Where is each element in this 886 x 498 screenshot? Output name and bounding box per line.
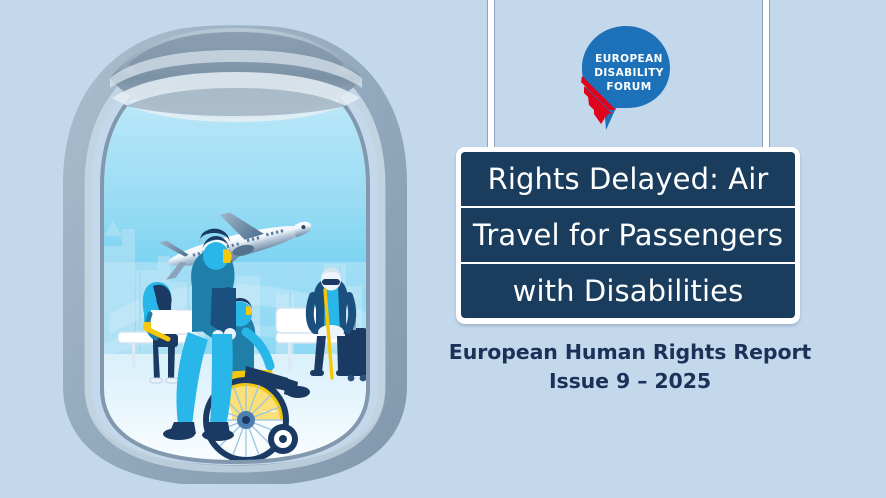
title-line-1: Rights Delayed: Air bbox=[461, 152, 795, 206]
title-sign-panel: Rights Delayed: Air Travel for Passenger… bbox=[456, 147, 800, 324]
airplane-window-illustration bbox=[40, 14, 430, 484]
subtitle-line-2: Issue 9 – 2025 bbox=[430, 367, 830, 396]
hanging-sign: Rights Delayed: Air Travel for Passenger… bbox=[440, 0, 840, 340]
sign-rod-right bbox=[762, 0, 770, 152]
report-subtitle: European Human Rights Report Issue 9 – 2… bbox=[430, 338, 830, 396]
subtitle-line-1: European Human Rights Report bbox=[449, 340, 811, 364]
sign-rod-left bbox=[487, 0, 495, 152]
title-line-3: with Disabilities bbox=[461, 264, 795, 318]
title-line-2: Travel for Passengers bbox=[461, 208, 795, 262]
window-scene-svg bbox=[40, 14, 430, 484]
cover-page: EUROPEAN DISABILITY FORUM Rights Delayed… bbox=[0, 0, 886, 498]
